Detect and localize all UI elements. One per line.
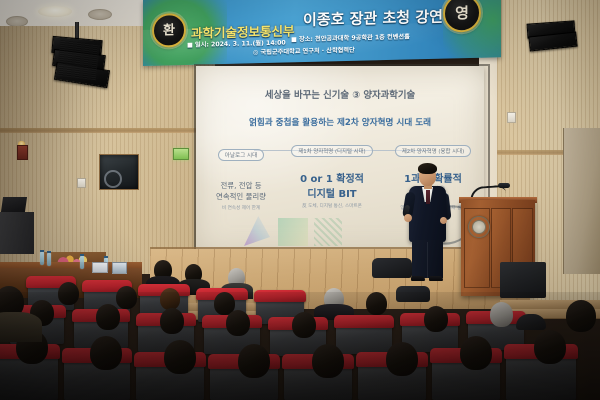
- slide-column-note: 反 도체, 디지털 통신, 스마트폰: [283, 203, 381, 209]
- slide-column-body: 전류, 전압 등: [202, 180, 280, 191]
- slide-column-pill: 제1차 양자혁명 (디지털 시대): [291, 145, 372, 157]
- speaker-left-hand: [440, 217, 447, 224]
- slide-column-body2: 연속적인 물리량: [202, 191, 280, 202]
- speaker-shoe: [429, 276, 443, 281]
- slide-graphic-prism: [244, 216, 270, 246]
- exit-sign-icon: [173, 148, 189, 160]
- speaker-shoe: [411, 276, 425, 281]
- tissue-box-icon: [92, 262, 108, 273]
- podium-seal-inner-icon: [472, 220, 486, 234]
- side-equipment-table: [0, 212, 34, 254]
- slide-column-analog: 아날로그 시대 전류, 전압 등 연속적인 물리량 비 연속성 제어 한계: [202, 142, 280, 211]
- laptop-icon: [1, 197, 27, 212]
- banner-title-highlight: 이종호 장관 초청 강연: [303, 6, 443, 30]
- bottle-cap-icon: [80, 254, 84, 256]
- speaker-grille: [56, 40, 100, 81]
- slide-column-body: 디지털 BIT: [283, 185, 381, 200]
- audience-head: [226, 310, 250, 336]
- audience-head: [386, 342, 418, 376]
- audience-head: [116, 286, 137, 309]
- slide-column-pill: 아날로그 시대: [218, 149, 265, 161]
- audience-head: [490, 302, 513, 327]
- slide-graphic-circuit: [314, 218, 342, 246]
- banner-left-emblem-text: 환: [163, 24, 175, 37]
- audience-head: [238, 344, 270, 378]
- slide-column-note: 비 연속성 제어 한계: [202, 205, 280, 211]
- auditorium-seat-cushion[interactable]: [334, 315, 394, 328]
- speaker-tie: [426, 190, 430, 204]
- audience-head: [312, 344, 344, 378]
- audience-head: [164, 340, 196, 374]
- audience-head: [460, 336, 492, 370]
- microphone-head-icon: [498, 183, 510, 188]
- fire-alarm-icon: [17, 145, 28, 160]
- tissue-box-icon: [112, 262, 127, 274]
- floor-bag: [396, 286, 430, 302]
- water-bottle-icon: [47, 253, 51, 266]
- banner-right-emblem-text: 영: [455, 6, 469, 21]
- slide-column-head: 0 or 1 확정적: [283, 170, 381, 185]
- speaker-hair: [418, 163, 437, 174]
- wall-outlet-icon: [507, 112, 516, 123]
- auditorium-seat-cushion[interactable]: [254, 290, 306, 302]
- bottle-cap-icon: [104, 256, 108, 258]
- audience-head: [424, 306, 448, 332]
- audience-head: [160, 288, 180, 310]
- lecture-hall-photo: 환 영 과학기술정보통신부 이종호 장관 초청 강연 ■ 일시: 2024. 3…: [0, 0, 600, 400]
- slide-subtitle: 얽힘과 중첩을 활용하는 제2차 양자혁명 시대 도래: [196, 116, 484, 128]
- audience-shoulders: [0, 312, 42, 342]
- ceiling-vent-icon: [88, 9, 112, 20]
- side-door[interactable]: [563, 128, 600, 274]
- event-banner: 환 영 과학기술정보통신부 이종호 장관 초청 강연 ■ 일시: 2024. 3…: [143, 0, 501, 66]
- audience-head: [160, 308, 184, 334]
- bottle-cap-icon: [40, 250, 44, 252]
- booth-reflection: [104, 170, 122, 188]
- slide-column-pill: 제2차 양자혁명 (융합 시대): [395, 145, 471, 157]
- audience-head: [90, 336, 122, 370]
- water-bottle-icon: [40, 252, 44, 265]
- slide-title: 세상을 바꾸는 신기술 ③ 양자과학기술: [196, 87, 484, 101]
- audience-head: [366, 292, 387, 315]
- audience-head: [534, 330, 566, 364]
- slide-column-first-quantum: 제1차 양자혁명 (디지털 시대) 0 or 1 확정적 디지털 BIT 反 도…: [283, 138, 381, 209]
- wall-outlet-icon: [77, 178, 86, 188]
- speaker-leg-split: [427, 242, 428, 278]
- audience-head: [292, 312, 316, 338]
- audience-head: [566, 300, 596, 332]
- speaker-right-hand: [404, 214, 412, 222]
- ceiling-light-icon: [38, 6, 72, 17]
- floor-bag: [372, 258, 412, 278]
- audience-head: [58, 282, 79, 305]
- stage-monitor-speaker: [500, 262, 546, 298]
- audience-cap-icon: [516, 314, 546, 330]
- bottle-cap-icon: [47, 251, 51, 253]
- water-bottle-icon: [80, 256, 84, 269]
- slide-graphic-chip: [278, 218, 308, 246]
- audience-head: [96, 304, 120, 330]
